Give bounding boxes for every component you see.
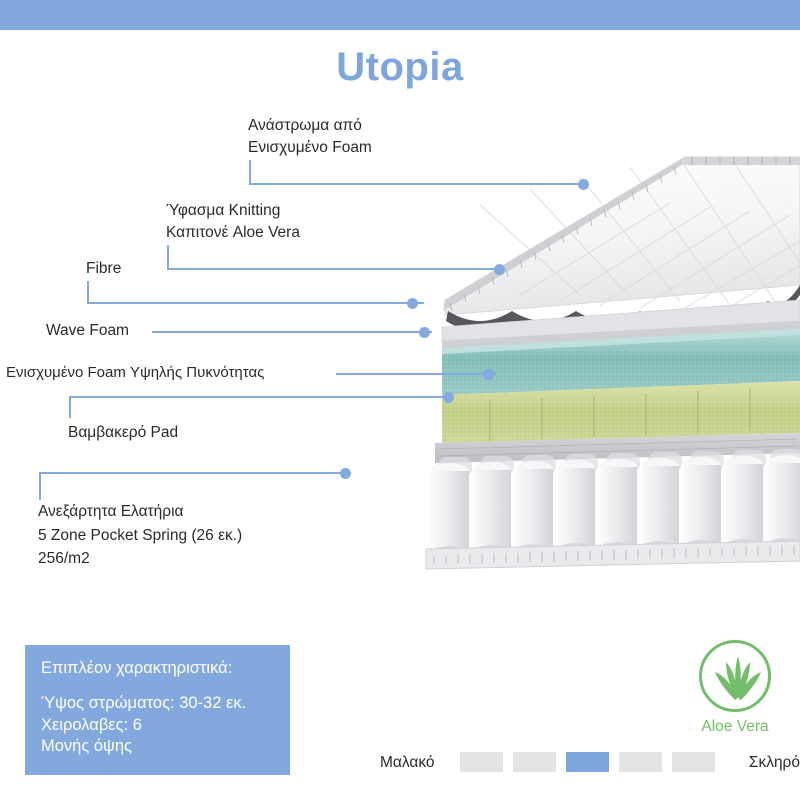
callout-knitting-leader-h	[167, 268, 500, 270]
callout-top-layer-leader-h	[249, 183, 584, 185]
callout-pocket-spring-line2: 5 Zone Pocket Spring (26 εκ.)	[38, 524, 242, 548]
callout-pocket-spring-leader-v	[39, 472, 41, 500]
callout-fibre-dot	[407, 298, 418, 309]
callout-cotton-pad-leader-h	[69, 396, 449, 398]
callout-pocket-spring-dot	[340, 468, 351, 479]
callout-cotton-pad-dot	[443, 392, 454, 403]
callout-fibre-label: Fibre	[86, 258, 121, 280]
features-item-sides: Μονής όψης	[41, 736, 274, 758]
features-item-handles: Χειρολαβες: 6	[41, 715, 274, 737]
aloe-vera-badge: Aloe Vera	[685, 640, 785, 736]
callout-top-layer-label: Ανάστρωμα από Ενισχυμένο Foam	[248, 115, 372, 159]
callout-fibre-leader-v	[87, 281, 89, 304]
callout-wave-foam-label: Wave Foam	[46, 320, 129, 342]
callout-fibre-leader-h	[87, 302, 424, 304]
callout-top-layer-dot	[578, 179, 589, 190]
callout-pocket-spring-line3: 256/m2	[38, 547, 242, 571]
callout-hd-foam-label: Ενισχυμένο Foam Υψηλής Πυκνότητας	[6, 362, 264, 383]
callout-top-layer-line1: Ανάστρωμα από	[248, 115, 372, 137]
callout-top-layer-line2: Ενισχυμένο Foam	[248, 137, 372, 159]
callout-pocket-spring-leader-h	[39, 472, 347, 474]
features-title: Επιπλέον χαρακτηριστικά:	[41, 659, 274, 679]
aloe-vera-ring	[699, 640, 771, 712]
mattress-illustration	[330, 145, 800, 580]
firmness-soft-label: Μαλακό	[380, 754, 435, 772]
callout-hd-foam-leader-h	[336, 373, 496, 375]
aloe-vera-label: Aloe Vera	[685, 718, 785, 736]
callout-knitting-label: Ύφασμα Knitting Καπιτονέ Aloe Vera	[166, 200, 300, 244]
features-item-height: Ύψος στρώματος: 30-32 εκ.	[41, 693, 274, 715]
aloe-leaves-icon	[708, 650, 768, 708]
firmness-segment-4[interactable]	[619, 752, 662, 772]
infographic-canvas: Utopia	[0, 0, 800, 800]
callout-top-layer-leader-v	[249, 160, 251, 185]
callout-knitting-leader-v	[167, 245, 169, 270]
firmness-hard-label: Σκληρό	[749, 754, 800, 772]
firmness-segment-3[interactable]	[566, 752, 609, 772]
callout-knitting-line1: Ύφασμα Knitting	[166, 200, 300, 222]
callout-cotton-pad-leader-v	[69, 396, 71, 418]
top-accent-bar	[0, 0, 800, 30]
callout-knitting-dot	[494, 264, 505, 275]
callout-cotton-pad-label: Βαμβακερό Pad	[68, 422, 178, 444]
firmness-segment-1[interactable]	[460, 752, 503, 772]
callout-wave-foam-leader-h	[152, 331, 432, 333]
callout-pocket-spring-line1: Ανεξάρτητα Ελατήρια	[38, 500, 242, 524]
features-box: Επιπλέον χαρακτηριστικά: Ύψος στρώματος:…	[25, 645, 290, 775]
callout-wave-foam-dot	[419, 327, 430, 338]
callout-knitting-line2: Καπιτονέ Aloe Vera	[166, 222, 300, 244]
layer-pocket-springs	[426, 449, 800, 569]
callout-hd-foam-dot	[483, 369, 494, 380]
firmness-segment-2[interactable]	[513, 752, 556, 772]
callout-pocket-spring-label: Ανεξάρτητα Ελατήρια 5 Zone Pocket Spring…	[38, 500, 242, 571]
firmness-segment-5[interactable]	[672, 752, 715, 772]
page-title: Utopia	[0, 45, 800, 90]
firmness-scale: Μαλακό Σκληρό	[380, 752, 800, 776]
